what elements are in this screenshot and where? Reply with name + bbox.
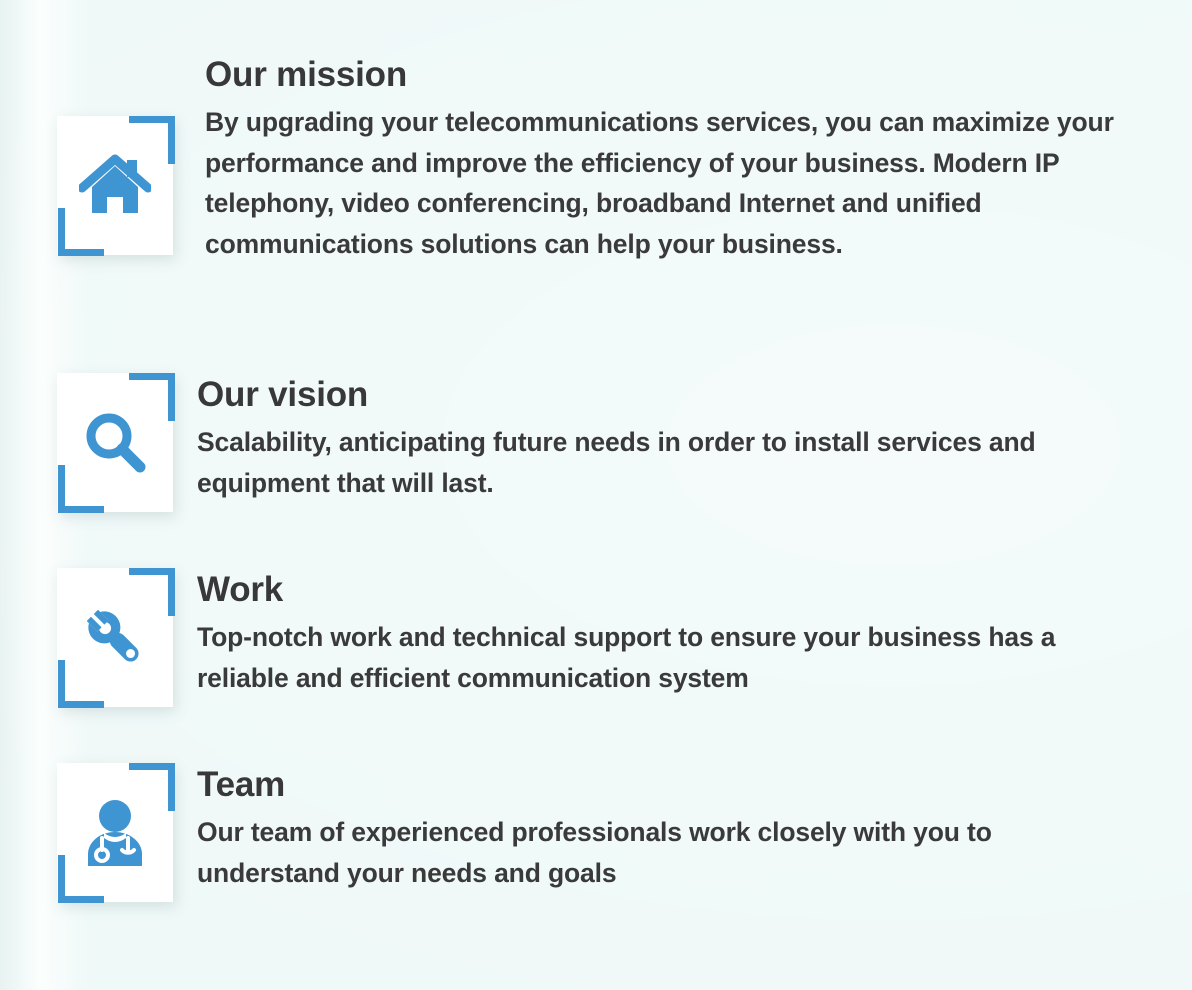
feature-description: By upgrading your telecommunications ser… xyxy=(205,102,1135,264)
features-list: Our mission By upgrading your telecommun… xyxy=(0,0,1192,990)
feature-description: Our team of experienced professionals wo… xyxy=(197,812,1127,893)
text-block-team: Team Our team of experienced professiona… xyxy=(197,766,1127,893)
icon-card-mission xyxy=(57,116,182,266)
feature-title: Work xyxy=(197,571,1127,608)
text-block-work: Work Top-notch work and technical suppor… xyxy=(197,571,1127,698)
text-block-mission: Our mission By upgrading your telecommun… xyxy=(205,56,1135,264)
home-icon xyxy=(57,116,173,255)
icon-card-vision xyxy=(57,373,182,523)
text-block-vision: Our vision Scalability, anticipating fut… xyxy=(197,376,1127,503)
icon-card-team xyxy=(57,763,182,913)
feature-title: Our mission xyxy=(205,56,1135,93)
icon-card-work xyxy=(57,568,182,718)
wrench-icon xyxy=(57,568,173,707)
feature-description: Top-notch work and technical support to … xyxy=(197,617,1127,698)
feature-title: Team xyxy=(197,766,1127,803)
feature-description: Scalability, anticipating future needs i… xyxy=(197,422,1127,503)
team-member-icon xyxy=(57,763,173,902)
magnifier-icon xyxy=(57,373,173,512)
feature-title: Our vision xyxy=(197,376,1127,413)
